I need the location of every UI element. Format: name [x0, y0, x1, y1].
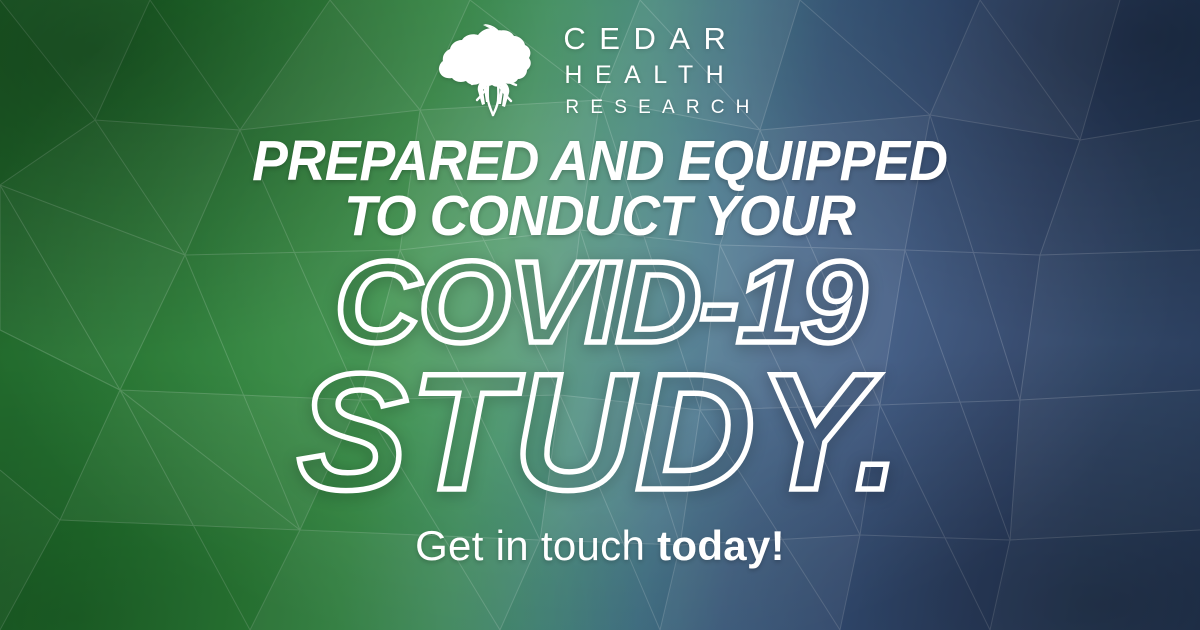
brand-name-line-3: RESEARCH — [565, 98, 760, 117]
brand-name-line-1: CEDAR — [563, 23, 739, 54]
brand-name-line-2: HEALTH — [564, 63, 736, 88]
banner-content: CEDAR HEALTH RESEARCH PREPARED AND EQUIP… — [0, 0, 1200, 630]
feature-line-study: STUDY. — [297, 357, 902, 510]
brand-logo: CEDAR HEALTH RESEARCH — [439, 22, 760, 118]
headline: PREPARED AND EQUIPPED TO CONDUCT YOUR — [253, 134, 948, 245]
cta-text-regular: Get in touch — [415, 522, 657, 569]
call-to-action[interactable]: Get in touch today! — [415, 522, 785, 570]
cta-text-bold: today! — [657, 522, 785, 569]
promotional-banner: .f{fill:#ffffff;} .ln{stroke:#ffffff;str… — [0, 0, 1200, 630]
headline-line-1: PREPARED AND EQUIPPED — [253, 134, 948, 189]
cedar-tree-with-two-figures-icon — [439, 22, 547, 118]
brand-wordmark: CEDAR HEALTH RESEARCH — [561, 23, 760, 117]
feature-line-covid: COVID-19 — [335, 249, 864, 356]
